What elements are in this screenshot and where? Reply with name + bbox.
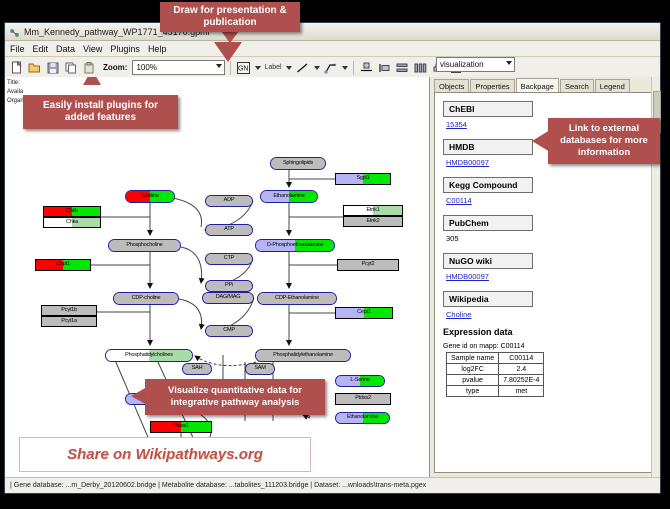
backpage-header-pubchem: PubChem	[443, 215, 533, 231]
expression-row-key: log2FC	[447, 364, 499, 375]
tab-legend[interactable]: Legend	[595, 79, 630, 93]
metabolite-node-o-phosphoethanolamine[interactable]: O-Phosphoethanolamine	[255, 239, 335, 252]
align-top-icon[interactable]	[359, 60, 374, 75]
tab-objects[interactable]: Objects	[434, 79, 469, 93]
node-label: CDP-Ethanolamine	[275, 296, 319, 302]
interaction-tool-icon[interactable]	[323, 60, 338, 75]
node-label: CMP	[223, 328, 235, 334]
backpage-header-chebi: ChEBI	[443, 101, 533, 117]
backpage-link-nugo[interactable]: HMDB00097	[446, 272, 655, 281]
expression-row-value: 7.80252E-4	[499, 375, 544, 386]
node-label: Etnk1	[366, 208, 379, 214]
gene-node-cept1[interactable]: Cept1	[335, 307, 393, 319]
tab-properties[interactable]: Properties	[470, 79, 514, 93]
expression-row-key: type	[447, 386, 499, 397]
menu-item-plugins[interactable]: Plugins	[110, 44, 140, 54]
node-label: ADP	[224, 198, 235, 204]
expression-table-row: log2FC2.4	[447, 364, 544, 375]
metabolite-node-phosphocholine[interactable]: Phosphocholine	[108, 239, 181, 252]
metabolite-node-ethanolamine-right[interactable]: Ethanolamine	[335, 412, 390, 424]
menu-item-help[interactable]: Help	[148, 44, 167, 54]
gene-node-pcyt1a[interactable]: Pcyt1a	[41, 316, 97, 327]
callout-share-wikipathways: Share on Wikipathways.org	[19, 437, 311, 472]
status-text: | Gene database: ...m_Derby_20120602.bri…	[5, 482, 426, 489]
tool-bar: Zoom: 100% GN Label	[5, 57, 660, 79]
node-label: Pcyt1b	[61, 308, 77, 314]
metabolite-node-choline-top[interactable]: Choline	[125, 190, 175, 203]
backpage-header-nugo: NuGO wiki	[443, 253, 533, 269]
callout-visualize-data: Visualize quantitative data for integrat…	[145, 379, 325, 415]
node-label: O-Phosphoethanolamine	[267, 243, 324, 249]
expression-table-body: Sample nameC00114log2FC2.4pvalue7.80252E…	[447, 353, 544, 397]
node-label: Etnk2	[366, 219, 379, 225]
metabolite-node-cmp[interactable]: CMP	[205, 325, 253, 337]
visualization-combo[interactable]: visualization	[436, 57, 515, 72]
node-label: Pcyt2	[362, 262, 375, 268]
node-label: Ptdss2	[355, 396, 371, 402]
zoom-combo[interactable]: 100%	[132, 60, 225, 75]
node-label: Choline	[141, 194, 158, 200]
expression-table: Sample nameC00114log2FC2.4pvalue7.80252E…	[446, 352, 544, 397]
expression-table-row: typemet	[447, 386, 544, 397]
side-panel-tabs: Objects Properties Backpage Search Legen…	[434, 79, 656, 93]
node-label: CTP	[224, 256, 234, 262]
pathvisio-window: Mm_Kennedy_pathway_WP1771_45176.gpml Fil…	[4, 22, 661, 494]
node-label: PPi	[225, 283, 233, 289]
gene-node-chkb[interactable]: Chkb	[43, 206, 101, 217]
menu-item-data[interactable]: Data	[56, 44, 75, 54]
node-label: Chka	[66, 220, 78, 226]
expression-table-row: pvalue7.80252E-4	[447, 375, 544, 386]
datanode-tool-icon[interactable]: GN	[236, 60, 251, 75]
metabolite-node-ctp[interactable]: CTP	[205, 253, 253, 265]
node-label: Pcyt1a	[61, 319, 77, 325]
metabolite-node-sah[interactable]: SAH	[182, 363, 212, 375]
backpage-header-wikipedia: Wikipedia	[443, 291, 533, 307]
status-bar: | Gene database: ...m_Derby_20120602.bri…	[5, 477, 660, 493]
expression-row-key: Sample name	[447, 353, 499, 364]
gene-node-pcyt1b[interactable]: Pcyt1b	[41, 305, 97, 316]
expression-data-heading: Expression data	[443, 327, 655, 337]
backpage-header-hmdb: HMDB	[443, 139, 533, 155]
tab-backpage[interactable]: Backpage	[516, 78, 559, 93]
save-file-icon[interactable]	[45, 60, 60, 75]
node-label: DAG/MAG	[216, 295, 241, 301]
node-label: Phosphocholine	[126, 243, 162, 249]
gene-id-label: Gene id on mapp: C00114	[443, 343, 655, 350]
gene-node-chka[interactable]: Chka	[43, 217, 101, 228]
metabolite-node-atp[interactable]: ATP	[205, 224, 253, 236]
gene-node-etnk1[interactable]: Etnk1	[343, 205, 403, 216]
metabolite-node-sam[interactable]: SAM	[245, 363, 275, 375]
menu-bar: File Edit Data View Plugins Help	[5, 41, 660, 57]
node-label: Chkb	[66, 209, 78, 215]
toolbar-separator-2	[353, 61, 354, 75]
callout-install-plugins-pointer	[83, 77, 101, 85]
expression-row-key: pvalue	[447, 375, 499, 386]
callout-external-links: Link to external databases for more info…	[548, 118, 660, 164]
metabolite-node-ethanolamine-top[interactable]: Ethanolamine	[260, 190, 318, 203]
node-label: Ptdss1	[173, 424, 189, 430]
node-label: SAH	[192, 366, 203, 372]
node-label: Phosphatidylethanolamine	[273, 353, 333, 359]
align-stack-icon[interactable]	[395, 60, 410, 75]
metabolite-node-adp[interactable]: ADP	[205, 195, 253, 207]
zoom-value: 100%	[136, 63, 156, 72]
node-label: Sphingolipids	[283, 161, 313, 167]
paste-icon[interactable]	[81, 60, 96, 75]
app-icon	[9, 26, 20, 37]
gene-node-chpt1[interactable]: Chpt1	[35, 259, 91, 271]
gene-node-pcyt2[interactable]: Pcyt2	[337, 259, 399, 271]
metabolite-node-l-serine-right[interactable]: L-Serine	[335, 375, 385, 387]
expression-row-value: C00114	[499, 353, 544, 364]
label-dropdown-icon[interactable]	[286, 66, 292, 70]
metabolite-node-cdp-choline[interactable]: CDP-choline	[113, 292, 179, 305]
distribute-icon[interactable]	[413, 60, 428, 75]
align-left-icon[interactable]	[377, 60, 392, 75]
node-label: Ethanolamine	[273, 194, 304, 200]
gene-node-sgpl1[interactable]: Sgpl1	[335, 173, 391, 185]
interaction-dropdown-icon[interactable]	[342, 66, 348, 70]
metabolite-node-ppi[interactable]: PPi	[205, 280, 253, 292]
metabolite-node-dagmag[interactable]: DAG/MAG	[202, 292, 254, 304]
backpage-header-kegg: Kegg Compound	[443, 177, 533, 193]
menu-item-file[interactable]: File	[10, 44, 25, 54]
node-label: Phosphatidylcholines	[125, 353, 173, 359]
menu-item-edit[interactable]: Edit	[33, 44, 49, 54]
expression-row-value: 2.4	[499, 364, 544, 375]
metabolite-node-phosphatidylcholines[interactable]: Phosphatidylcholines	[105, 349, 193, 362]
node-label: CDP-choline	[132, 296, 161, 302]
pathway-diagram[interactable]: SphingolipidsCholineEthanolamineADPATPPh…	[5, 77, 429, 476]
zoom-label: Zoom:	[103, 63, 127, 72]
backpage-value-pubchem: 305	[446, 234, 655, 243]
chevron-down-icon-visualization	[506, 61, 512, 65]
gene-node-ptdss1[interactable]: Ptdss1	[150, 421, 212, 433]
node-label: ATP	[224, 227, 234, 233]
screenshot-root: Mm_Kennedy_pathway_WP1771_45176.gpml Fil…	[0, 0, 670, 509]
node-label: Ethanolamine	[347, 415, 378, 421]
open-file-icon[interactable]	[27, 60, 42, 75]
callout-draw-publication-pointer	[214, 42, 242, 62]
callout-install-plugins: Easily install plugins for added feature…	[23, 95, 178, 129]
chevron-down-icon	[216, 64, 222, 68]
backpage-link-kegg[interactable]: C00114	[446, 196, 655, 205]
backpage-link-wikipedia[interactable]: Choline	[446, 310, 655, 319]
tab-search[interactable]: Search	[560, 79, 594, 93]
node-label: SAM	[254, 366, 265, 372]
expression-row-value: met	[499, 386, 544, 397]
node-label: Chpt1	[56, 262, 70, 268]
copy-icon[interactable]	[63, 60, 78, 75]
gene-node-etnk2[interactable]: Etnk2	[343, 216, 403, 227]
node-label: L-Serine	[350, 378, 369, 384]
menu-item-view[interactable]: View	[83, 44, 102, 54]
info-title-label: Title:	[7, 79, 51, 88]
pathway-canvas[interactable]: Title: Availa Organi	[5, 77, 430, 477]
expression-table-row: Sample nameC00114	[447, 353, 544, 364]
title-bar: Mm_Kennedy_pathway_WP1771_45176.gpml	[5, 23, 660, 41]
share-wikipathways-text: Share on Wikipathways.org	[67, 446, 263, 463]
svg-text:GN: GN	[238, 65, 249, 72]
metabolite-node-sphingolipids[interactable]: Sphingolipids	[270, 157, 326, 170]
new-file-icon[interactable]	[9, 60, 24, 75]
node-label: Sgpl1	[356, 176, 369, 182]
gene-node-ptdss2[interactable]: Ptdss2	[335, 393, 391, 405]
toolbar-separator	[230, 61, 231, 75]
callout-draw-publication: Draw for presentation & publication	[160, 2, 300, 32]
visualization-value: visualization	[440, 60, 484, 69]
label-tool-label[interactable]: Label	[264, 64, 281, 71]
line-dropdown-icon[interactable]	[314, 66, 320, 70]
node-label: Cept1	[357, 310, 371, 316]
line-tool-icon[interactable]	[295, 60, 310, 75]
metabolite-node-cdp-ethanolamine[interactable]: CDP-Ethanolamine	[257, 292, 337, 305]
datanode-dropdown-icon[interactable]	[255, 66, 261, 70]
metabolite-node-phosphatidylethanolamine[interactable]: Phosphatidylethanolamine	[255, 349, 351, 362]
